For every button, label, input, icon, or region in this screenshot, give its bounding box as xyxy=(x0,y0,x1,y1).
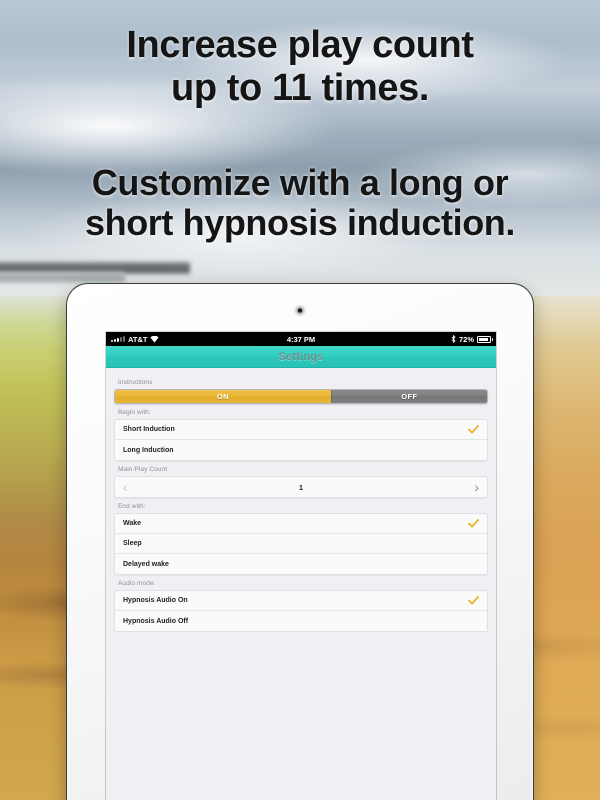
status-bar: AT&T 4:37 PM xyxy=(106,332,496,346)
section-label-end-with: End with: xyxy=(118,503,488,510)
audio-mode-group: Hypnosis Audio On Hypnosis Audio Off xyxy=(114,590,488,632)
list-item[interactable]: Delayed wake xyxy=(115,554,487,574)
checkmark-icon xyxy=(468,519,479,528)
wifi-icon xyxy=(150,336,159,343)
list-item[interactable]: Long Induction xyxy=(115,440,487,460)
screen-empty-area xyxy=(106,632,496,800)
battery-icon xyxy=(477,336,491,343)
main-play-count-value: 1 xyxy=(299,483,303,492)
end-with-group: Wake Sleep Delayed wake xyxy=(114,513,488,575)
headline-primary-line-1: Increase play count xyxy=(0,24,600,67)
headline-secondary-line-2: short hypnosis induction. xyxy=(0,203,600,243)
list-item[interactable]: Hypnosis Audio Off xyxy=(115,611,487,631)
option-label: Wake xyxy=(123,520,468,527)
carrier-label: AT&T xyxy=(128,335,147,344)
list-item[interactable]: Hypnosis Audio On xyxy=(115,591,487,611)
option-label: Long Induction xyxy=(123,447,479,454)
settings-content: Instructions ON OFF Begin with: Short In… xyxy=(106,368,496,632)
instructions-off-segment[interactable]: OFF xyxy=(331,390,487,403)
checkmark-icon xyxy=(468,596,479,605)
begin-with-group: Short Induction Long Induction xyxy=(114,419,488,461)
option-label: Delayed wake xyxy=(123,561,479,568)
nav-bar: Settings xyxy=(106,346,496,368)
section-label-instructions: Instructions xyxy=(118,379,488,386)
instructions-segmented-control[interactable]: ON OFF xyxy=(114,389,488,404)
list-item[interactable]: Short Induction xyxy=(115,420,487,440)
section-label-audio-mode: Audio mode: xyxy=(118,580,488,587)
headline-secondary: Customize with a long or short hypnosis … xyxy=(0,163,600,244)
headline-secondary-line-1: Customize with a long or xyxy=(0,163,600,203)
option-label: Short Induction xyxy=(123,426,468,433)
tablet-device: AT&T 4:37 PM xyxy=(66,283,534,800)
bluetooth-icon xyxy=(451,335,456,343)
option-label: Hypnosis Audio Off xyxy=(123,618,479,625)
front-camera-icon xyxy=(296,306,305,315)
main-play-count-stepper[interactable]: ‹ 1 › xyxy=(114,476,488,498)
instructions-on-segment[interactable]: ON xyxy=(115,390,331,403)
page-title: Settings xyxy=(279,351,324,363)
checkmark-icon xyxy=(468,425,479,434)
option-label: Hypnosis Audio On xyxy=(123,597,468,604)
promo-screenshot: Increase play count up to 11 times. Cust… xyxy=(0,0,600,800)
clock-label: 4:37 PM xyxy=(287,335,315,344)
signal-dots-icon xyxy=(111,336,125,342)
chevron-right-icon[interactable]: › xyxy=(474,480,479,494)
chevron-left-icon[interactable]: ‹ xyxy=(123,480,128,494)
section-label-main-play-count: Main Play Count xyxy=(118,466,488,473)
list-item[interactable]: Wake xyxy=(115,514,487,534)
device-screen: AT&T 4:37 PM xyxy=(106,332,496,800)
headline-primary-line-2: up to 11 times. xyxy=(0,67,600,110)
battery-percent-label: 72% xyxy=(459,335,474,344)
list-item[interactable]: Sleep xyxy=(115,534,487,554)
background-structure-bar-2 xyxy=(0,272,125,282)
section-label-begin-with: Begin with: xyxy=(118,409,488,416)
option-label: Sleep xyxy=(123,540,479,547)
headline-primary: Increase play count up to 11 times. xyxy=(0,24,600,109)
